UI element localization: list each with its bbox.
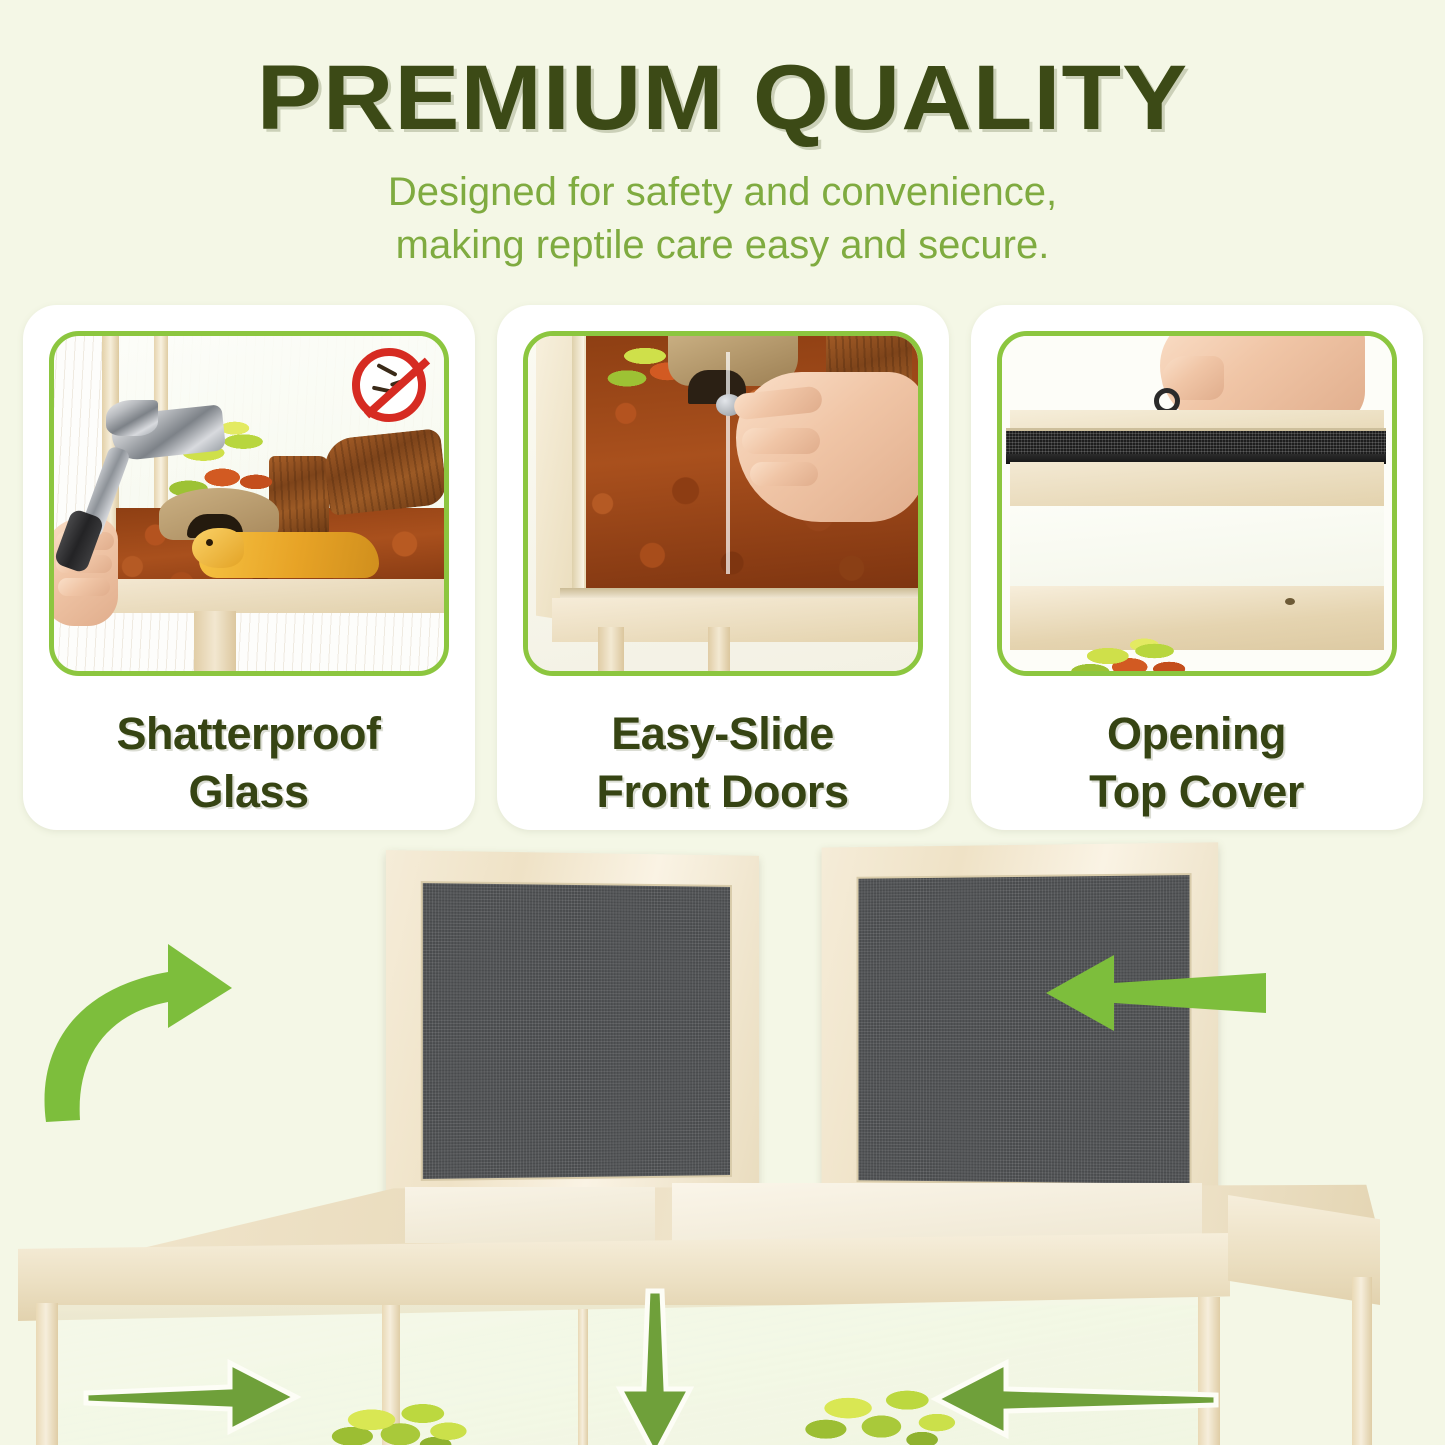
- feature-card-opening-top-cover[interactable]: Opening Top Cover: [971, 305, 1423, 830]
- top-opening-left: [405, 1187, 655, 1243]
- crack-line-1: [376, 363, 397, 377]
- enclosure-top-frame: [1010, 462, 1384, 508]
- feature-photo-easy-slide-front-doors: [523, 331, 923, 676]
- subtitle-line-1: Designed for safety and convenience,: [0, 166, 1445, 219]
- arrow-down-to-front-door: [612, 1285, 698, 1445]
- feature-photo-shatterproof-glass: [49, 331, 449, 676]
- feature-card-shatterproof-glass[interactable]: Shatterproof Glass: [23, 305, 475, 830]
- top-opening-right: [672, 1183, 1202, 1243]
- artificial-plant: [1064, 636, 1210, 676]
- sliding-door-edge: [572, 331, 584, 623]
- screw-hole: [1285, 598, 1295, 605]
- curved-arrow-to-left-mesh-panel: [18, 930, 268, 1130]
- subtitle-line-2: making reptile care easy and secure.: [0, 219, 1445, 272]
- feature-caption-opening-top-cover: Opening Top Cover: [971, 705, 1423, 820]
- cabinet-leg-left: [598, 627, 624, 671]
- corner-post-far-right: [1352, 1277, 1372, 1445]
- caption-line-2: Front Doors: [497, 763, 949, 821]
- feature-cards: Shatterproof Glass: [0, 305, 1445, 835]
- glass-gap: [1010, 506, 1384, 590]
- feature-caption-easy-slide-front-doors: Easy-Slide Front Doors: [497, 705, 949, 820]
- door-seam: [726, 352, 730, 574]
- no-crack-icon: [352, 348, 426, 422]
- page-title: PREMIUM QUALITY: [0, 0, 1445, 144]
- header: PREMIUM QUALITY Designed for safety and …: [0, 0, 1445, 300]
- caption-line-1: Shatterproof: [23, 705, 475, 763]
- cabinet-leg-right: [708, 627, 730, 671]
- bearded-dragon-head: [192, 528, 244, 568]
- arrow-to-right-glass-door: [930, 1355, 1220, 1441]
- left-mesh-screen: [421, 881, 732, 1181]
- left-mesh-top-panel[interactable]: [386, 850, 759, 1208]
- corner-post-left: [36, 1303, 58, 1445]
- page-subtitle: Designed for safety and convenience, mak…: [0, 166, 1445, 272]
- middle-finger: [742, 428, 820, 454]
- caption-line-2: Glass: [23, 763, 475, 821]
- feature-caption-shatterproof-glass: Shatterproof Glass: [23, 705, 475, 820]
- finger-3: [58, 578, 110, 596]
- arrow-to-right-mesh-panel: [1040, 943, 1270, 1043]
- ring-finger: [750, 462, 818, 486]
- caption-line-1: Opening: [971, 705, 1423, 763]
- caption-line-2: Top Cover: [971, 763, 1423, 821]
- hammer-claw-icon: [106, 400, 158, 436]
- door-seam-post: [578, 1309, 588, 1445]
- feature-card-easy-slide-front-doors[interactable]: Easy-Slide Front Doors: [497, 305, 949, 830]
- cabinet-leg: [194, 611, 236, 671]
- arrow-to-left-glass-door: [82, 1357, 302, 1437]
- bark-hide-right: [322, 428, 447, 516]
- bearded-dragon-eye: [206, 539, 213, 546]
- feature-photo-opening-top-cover: [997, 331, 1397, 676]
- product-photo: [0, 835, 1445, 1445]
- plant-inside-left: [330, 1400, 490, 1445]
- caption-line-1: Easy-Slide: [497, 705, 949, 763]
